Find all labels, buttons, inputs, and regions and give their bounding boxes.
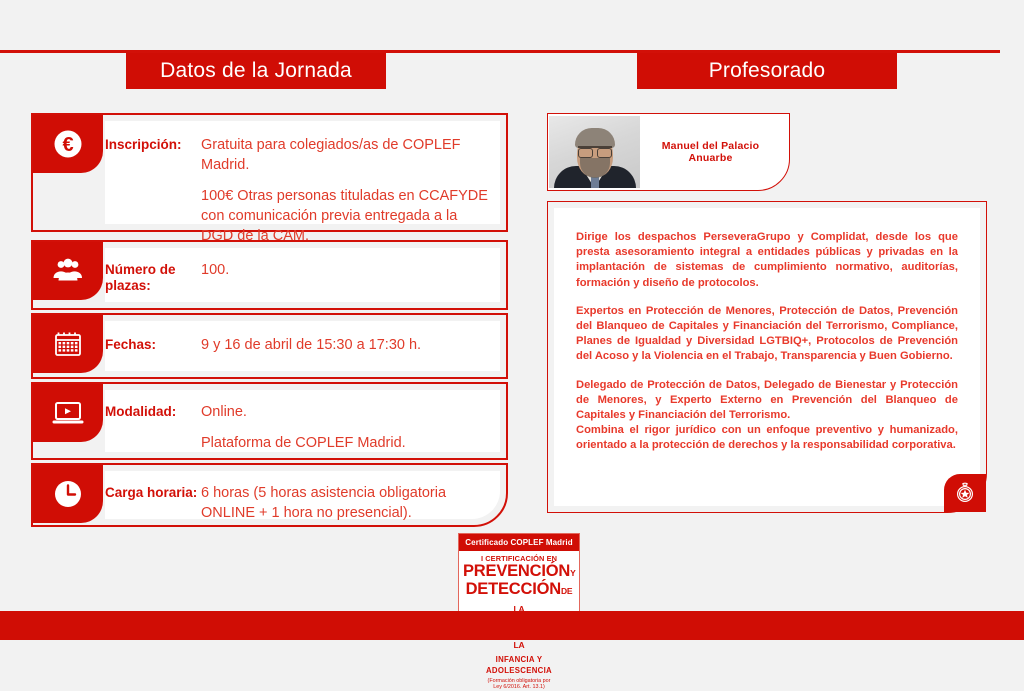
bio-paragraph: Delegado de Protección de Datos, Delegad… <box>576 378 958 424</box>
detail-row-label: Fechas: <box>105 335 201 353</box>
detail-text-line: Gratuita para colegiados/as de COPLEF Ma… <box>201 135 490 175</box>
section-header-left-label: Datos de la Jornada <box>160 59 352 83</box>
detail-row-inscripcion: € Inscripción: Gratuita para colegiados/… <box>31 113 508 232</box>
bio-paragraph: Dirige los despachos PerseveraGrupo y Co… <box>576 230 958 291</box>
bottom-accent-bar <box>0 611 1024 640</box>
section-header-right-label: Profesorado <box>709 59 826 83</box>
instructor-name: Manuel del Palacio Anuarbe <box>640 140 789 164</box>
detail-row-carga-horaria: Carga horaria: 6 horas (5 horas asistenc… <box>31 463 508 527</box>
detail-row-value: 6 horas (5 horas asistencia obligatoria … <box>201 483 490 523</box>
calendar-icon <box>33 315 103 373</box>
bio-paragraph: Combina el rigor jurídico con un enfoque… <box>576 423 958 453</box>
detail-row-label: Inscripción: <box>105 135 201 153</box>
detail-row-content: Carga horaria: 6 horas (5 horas asistenc… <box>105 471 500 519</box>
avatar-glasses <box>578 146 612 156</box>
section-header-datos-jornada: Datos de la Jornada <box>126 53 386 89</box>
detail-row-content: Número de plazas: 100. <box>105 248 500 302</box>
detail-row-value: 9 y 16 de abril de 15:30 a 17:30 h. <box>201 335 421 355</box>
certificate-line-5: INFANCIA Y ADOLESCENCIA <box>463 654 575 676</box>
detail-row-fechas: Fechas: 9 y 16 de abril de 15:30 a 17:30… <box>31 313 508 379</box>
certificate-line-2-main: PREVENCIÓN <box>463 562 570 580</box>
avatar <box>549 116 640 188</box>
detail-row-label: Carga horaria: <box>105 483 201 501</box>
detail-text-line: 6 horas (5 horas asistencia obligatoria … <box>201 483 490 523</box>
detail-text-line: 100€ Otras personas tituladas en CCAFYDE… <box>201 186 490 246</box>
detail-row-modalidad: Modalidad: Online. Plataforma de COPLEF … <box>31 382 508 460</box>
slide-canvas: Datos de la Jornada Profesorado € Inscri… <box>0 0 1024 640</box>
jornada-details-panel: € Inscripción: Gratuita para colegiados/… <box>31 113 508 513</box>
instructor-card: Manuel del Palacio Anuarbe <box>547 113 790 191</box>
certificate-line-3-main: DETECCIÓN <box>466 580 561 598</box>
clock-icon <box>33 465 103 523</box>
people-icon <box>33 242 103 300</box>
svg-text:€: € <box>62 134 73 156</box>
certificate-banner: Certificado COPLEF Madrid <box>459 534 579 551</box>
profesorado-panel: Manuel del Palacio Anuarbe Dirige los de… <box>547 113 987 513</box>
certificate-line-2: PREVENCIÓNY <box>463 563 575 581</box>
certificate-fine-print-2: Ley 6/2016. Art. 13.1) <box>463 684 575 690</box>
coplef-crown-shield-icon <box>944 474 986 512</box>
detail-text-line: Plataforma de COPLEF Madrid. <box>201 433 406 453</box>
section-header-profesorado: Profesorado <box>637 53 897 89</box>
detail-row-content: Inscripción: Gratuita para colegiados/as… <box>105 121 500 224</box>
detail-row-label: Modalidad: <box>105 402 201 420</box>
detail-text-line: Online. <box>201 402 406 422</box>
euro-icon: € <box>33 115 103 173</box>
detail-row-plazas: Número de plazas: 100. <box>31 240 508 310</box>
laptop-play-icon <box>33 384 103 442</box>
avatar-hair <box>575 128 615 148</box>
detail-text-line: 9 y 16 de abril de 15:30 a 17:30 h. <box>201 335 421 355</box>
certificate-line-2-small: Y <box>570 568 575 578</box>
detail-row-value: Gratuita para colegiados/as de COPLEF Ma… <box>201 135 490 246</box>
instructor-bio-text: Dirige los despachos PerseveraGrupo y Co… <box>554 208 980 506</box>
detail-text-line: 100. <box>201 260 229 280</box>
certificate-fine-print: (Formación obligatoria por Ley 6/2016. A… <box>463 678 575 691</box>
detail-row-content: Fechas: 9 y 16 de abril de 15:30 a 17:30… <box>105 321 500 371</box>
detail-row-content: Modalidad: Online. Plataforma de COPLEF … <box>105 390 500 452</box>
instructor-bio-card: Dirige los despachos PerseveraGrupo y Co… <box>547 201 987 513</box>
bio-paragraph: Expertos en Protección de Menores, Prote… <box>576 304 958 365</box>
detail-row-value: 100. <box>201 260 229 280</box>
detail-row-label: Número de plazas: <box>105 260 201 294</box>
detail-row-value: Online. Plataforma de COPLEF Madrid. <box>201 402 406 453</box>
